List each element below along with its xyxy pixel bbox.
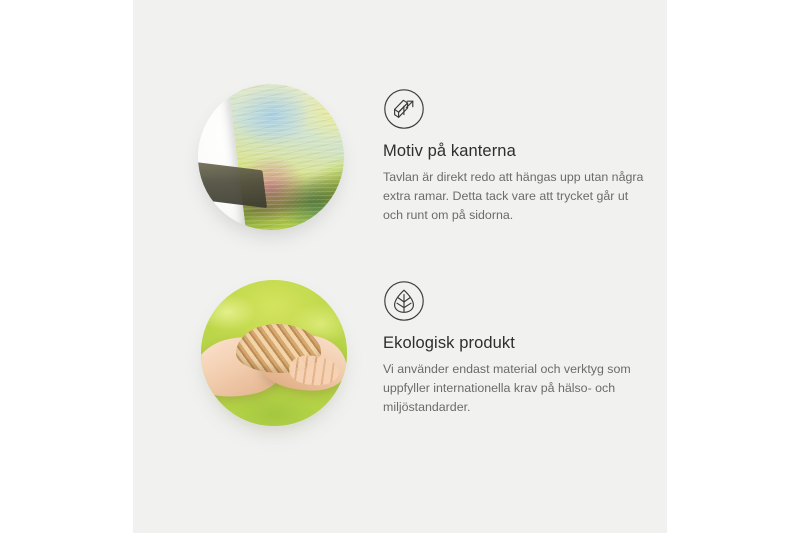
feature-text-block: Ekologisk produkt Vi använder endast mat…: [383, 280, 663, 417]
wrapped-canvas-edge-icon: [383, 88, 425, 130]
hands-holding-wood-chips-photo: [201, 280, 347, 426]
leaf-icon: [383, 280, 425, 322]
product-feature-panel: Motiv på kanterna Tavlan är direkt redo …: [0, 0, 800, 533]
artwork-paint-streaks: [229, 84, 344, 230]
canvas-edge-artwork-photo: [198, 84, 344, 230]
meadow-scene: [201, 280, 347, 426]
feature-title: Ekologisk produkt: [383, 334, 663, 353]
feature-description: Vi använder endast material och verktyg …: [383, 360, 645, 417]
feature-description: Tavlan är direkt redo att hängas upp uta…: [383, 168, 645, 225]
artwork-canvas: [229, 84, 344, 230]
feature-title: Motiv på kanterna: [383, 142, 663, 161]
content-panel: Motiv på kanterna Tavlan är direkt redo …: [133, 0, 667, 533]
artwork-scene: [198, 84, 344, 230]
feature-text-block: Motiv på kanterna Tavlan är direkt redo …: [383, 88, 663, 225]
